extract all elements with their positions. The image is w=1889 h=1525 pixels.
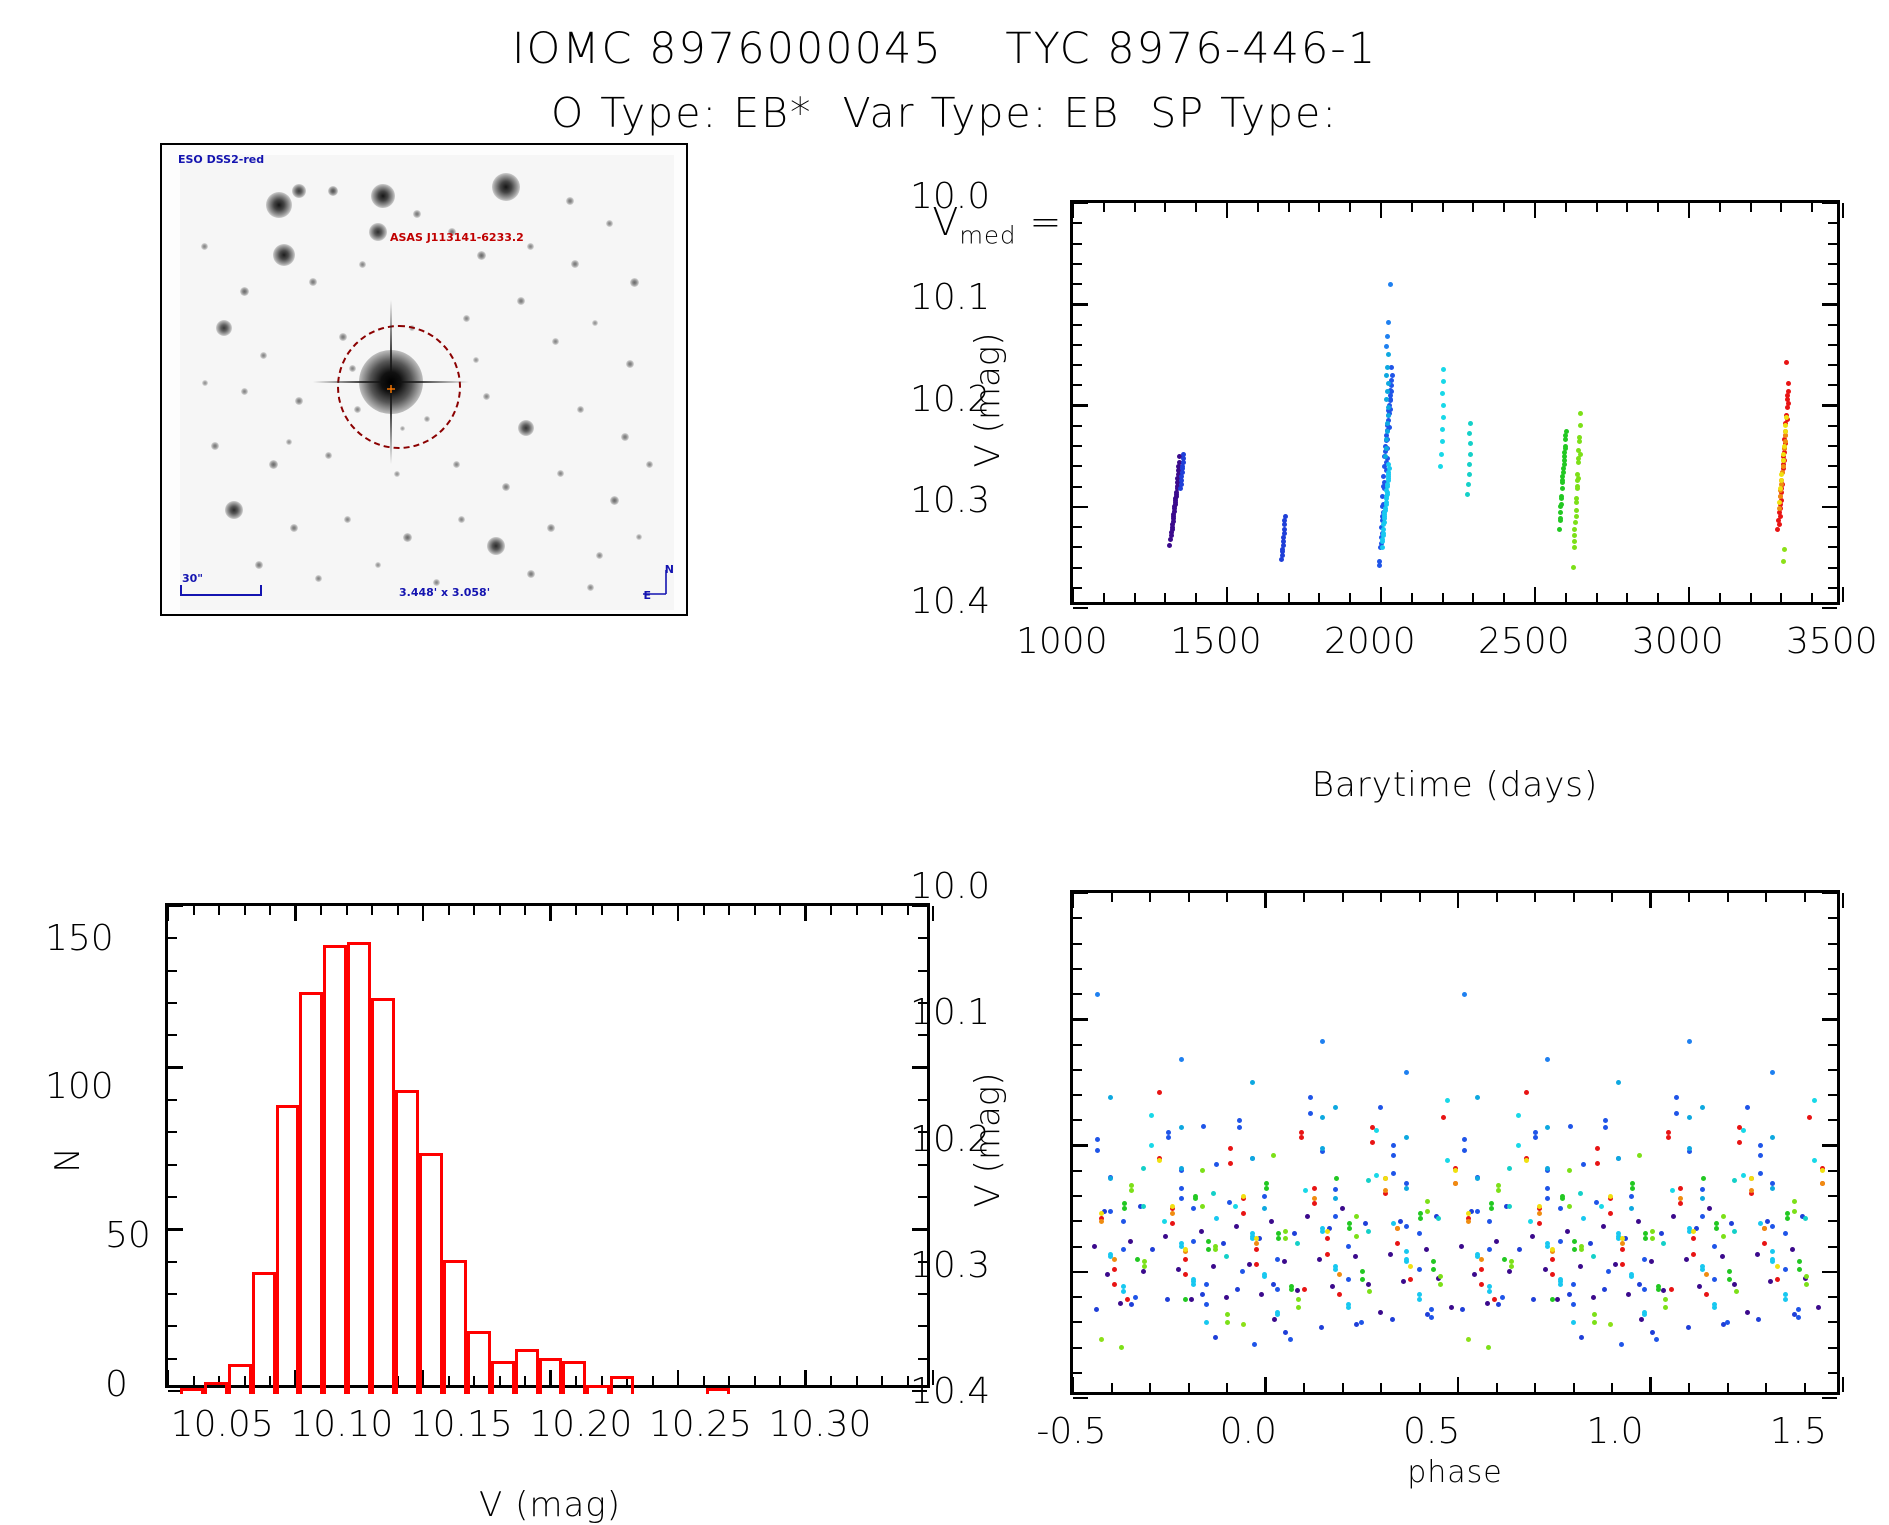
data-point bbox=[1613, 1262, 1618, 1267]
field-star bbox=[610, 496, 619, 505]
data-point bbox=[1778, 514, 1783, 519]
lightcurve-plot-area[interactable] bbox=[1070, 200, 1840, 605]
x-tick-minor-bottom bbox=[1349, 593, 1351, 602]
data-point bbox=[1758, 1143, 1763, 1148]
data-point bbox=[1567, 1292, 1572, 1297]
phaseplot-plot-area[interactable] bbox=[1070, 890, 1840, 1395]
data-point bbox=[1712, 1277, 1717, 1282]
data-point bbox=[1606, 1269, 1611, 1274]
histogram-x-axis-label: V (mag) bbox=[300, 1485, 800, 1525]
data-point bbox=[1581, 1162, 1586, 1167]
data-point bbox=[1782, 444, 1787, 449]
data-point bbox=[1417, 1297, 1422, 1302]
data-point bbox=[1775, 527, 1780, 532]
data-point bbox=[1378, 1105, 1383, 1110]
data-point bbox=[1745, 1105, 1750, 1110]
histogram-y-tick-label: 0 bbox=[105, 1364, 128, 1405]
x-tick-minor-top bbox=[652, 906, 654, 915]
data-point bbox=[1734, 1289, 1739, 1294]
data-point bbox=[1282, 527, 1287, 532]
data-point bbox=[1388, 282, 1393, 287]
data-point bbox=[1608, 1194, 1613, 1199]
data-point bbox=[1108, 1209, 1113, 1214]
field-star bbox=[566, 197, 574, 205]
x-tick-minor-bottom bbox=[1503, 593, 1505, 602]
y-tick-major-left bbox=[1073, 1144, 1088, 1147]
x-tick-minor-bottom bbox=[728, 1376, 730, 1385]
x-tick-major-bottom bbox=[677, 1370, 680, 1385]
histogram-bar bbox=[276, 1105, 300, 1394]
data-point bbox=[1094, 1307, 1099, 1312]
data-point bbox=[1572, 545, 1577, 550]
data-point bbox=[1401, 1279, 1406, 1284]
data-point bbox=[1687, 1039, 1692, 1044]
data-point bbox=[1792, 1209, 1797, 1214]
data-point bbox=[1254, 1241, 1259, 1246]
field-star bbox=[309, 278, 317, 286]
field-star bbox=[596, 552, 603, 559]
y-tick-minor-right bbox=[1828, 587, 1837, 589]
y-tick-minor-left bbox=[1073, 283, 1082, 285]
data-point bbox=[1467, 462, 1472, 467]
data-point bbox=[1320, 1146, 1325, 1151]
finder-chart-panel[interactable]: ASAS J113141-6233.2 ESO DSS2-red 30" 3.4… bbox=[160, 143, 688, 616]
data-point bbox=[1445, 1158, 1450, 1163]
data-point bbox=[1779, 472, 1784, 477]
data-point bbox=[1560, 480, 1565, 485]
data-point bbox=[1785, 1216, 1790, 1221]
x-tick-minor-top bbox=[346, 906, 348, 915]
data-point bbox=[1237, 1118, 1242, 1123]
y-tick-minor-right bbox=[918, 1325, 927, 1327]
x-tick-major-bottom bbox=[167, 1370, 170, 1385]
data-point bbox=[1170, 1221, 1175, 1226]
x-tick-minor-top bbox=[1611, 893, 1613, 902]
data-point bbox=[1560, 474, 1565, 479]
field-star bbox=[328, 186, 338, 196]
data-point bbox=[1112, 1282, 1117, 1287]
data-point bbox=[1359, 1320, 1364, 1325]
data-point bbox=[1571, 1282, 1576, 1287]
data-point bbox=[1347, 1226, 1352, 1231]
data-point bbox=[1737, 1125, 1742, 1130]
data-point bbox=[1366, 1178, 1371, 1183]
data-point bbox=[1234, 1224, 1239, 1229]
x-tick-minor-top bbox=[1257, 203, 1259, 212]
data-point bbox=[1768, 1279, 1773, 1284]
data-point bbox=[1804, 1282, 1809, 1287]
data-point bbox=[1565, 1229, 1570, 1234]
x-tick-major-top bbox=[1380, 203, 1383, 218]
x-tick-minor-top bbox=[1111, 893, 1113, 902]
histogram-y-tick-label: 100 bbox=[45, 1066, 114, 1107]
data-point bbox=[1637, 1153, 1642, 1158]
data-point bbox=[1275, 1287, 1280, 1292]
data-point bbox=[1241, 1194, 1246, 1199]
data-point bbox=[1487, 1219, 1492, 1224]
x-tick-minor-bottom bbox=[1442, 593, 1444, 602]
data-point bbox=[1629, 1194, 1634, 1199]
data-point bbox=[1095, 1148, 1100, 1153]
histogram-bar bbox=[706, 1388, 730, 1394]
x-tick-major-bottom bbox=[1842, 1377, 1845, 1392]
data-point bbox=[1804, 1274, 1809, 1279]
data-point bbox=[1247, 1262, 1252, 1267]
x-tick-minor-bottom bbox=[1565, 593, 1567, 602]
data-point bbox=[1575, 478, 1580, 483]
data-point bbox=[1271, 1153, 1276, 1158]
data-point bbox=[1149, 1143, 1154, 1148]
data-point bbox=[1691, 1252, 1696, 1257]
data-point bbox=[1275, 1257, 1280, 1262]
data-point bbox=[1121, 1247, 1126, 1252]
x-tick-minor-top bbox=[1288, 203, 1290, 212]
data-point bbox=[1333, 1214, 1338, 1219]
field-star bbox=[394, 471, 400, 477]
data-point bbox=[1509, 1264, 1514, 1269]
y-tick-minor-left bbox=[168, 1099, 177, 1101]
data-point bbox=[1629, 1272, 1634, 1277]
y-tick-minor-left bbox=[1073, 243, 1082, 245]
data-point bbox=[1575, 486, 1580, 491]
y-tick-minor-right bbox=[1828, 1195, 1837, 1197]
data-point bbox=[1714, 1226, 1719, 1231]
x-tick-minor-top bbox=[397, 906, 399, 915]
x-tick-major-top bbox=[1226, 203, 1229, 218]
x-tick-minor-bottom bbox=[856, 1376, 858, 1385]
x-tick-major-bottom bbox=[1688, 587, 1691, 602]
data-point bbox=[1479, 1282, 1484, 1287]
data-point bbox=[1765, 1219, 1770, 1224]
field-star bbox=[547, 524, 555, 532]
data-point bbox=[1325, 1236, 1330, 1241]
data-point bbox=[1545, 1057, 1550, 1062]
x-tick-minor-bottom bbox=[1573, 1383, 1575, 1392]
lightcurve-y-tick-label: 10.2 bbox=[910, 379, 990, 420]
data-point bbox=[1167, 543, 1172, 548]
data-point bbox=[1201, 1124, 1206, 1129]
data-point bbox=[1762, 1226, 1767, 1231]
data-point bbox=[1453, 1168, 1458, 1173]
data-point bbox=[1276, 1231, 1281, 1236]
data-point bbox=[1129, 1302, 1134, 1307]
y-tick-major-left bbox=[1073, 202, 1088, 205]
phaseplot-x-axis-label: phase bbox=[1205, 1455, 1705, 1490]
data-point bbox=[1380, 537, 1385, 542]
data-point bbox=[1543, 1267, 1548, 1272]
x-tick-minor-bottom bbox=[1750, 593, 1752, 602]
x-tick-minor-top bbox=[1688, 893, 1690, 902]
field-star bbox=[225, 501, 243, 519]
data-point bbox=[1112, 1267, 1117, 1272]
y-tick-minor-left bbox=[1073, 1220, 1082, 1222]
data-point bbox=[1601, 1224, 1606, 1229]
data-point bbox=[1250, 1156, 1255, 1161]
data-point bbox=[1666, 1135, 1671, 1140]
y-tick-minor-right bbox=[918, 1034, 927, 1036]
x-tick-major-top bbox=[1072, 893, 1075, 908]
y-tick-minor-right bbox=[1828, 526, 1837, 528]
data-point bbox=[1574, 508, 1579, 513]
data-point bbox=[1200, 1168, 1205, 1173]
data-point bbox=[1141, 1269, 1146, 1274]
data-point bbox=[1783, 1231, 1788, 1236]
y-tick-minor-right bbox=[1828, 445, 1837, 447]
histogram-y-tick-label: 50 bbox=[105, 1215, 151, 1256]
data-point bbox=[1183, 1247, 1188, 1252]
data-point bbox=[1142, 1264, 1147, 1269]
x-tick-minor-bottom bbox=[1811, 593, 1813, 602]
field-star bbox=[587, 584, 594, 591]
y-tick-minor-left bbox=[168, 937, 177, 939]
x-tick-minor-bottom bbox=[1303, 1383, 1305, 1392]
x-tick-minor-bottom bbox=[907, 1376, 909, 1385]
data-point bbox=[1254, 1262, 1259, 1267]
data-point bbox=[1283, 1330, 1288, 1335]
histogram-bar bbox=[180, 1388, 204, 1394]
histogram-bar bbox=[443, 1260, 467, 1394]
field-star bbox=[646, 461, 653, 468]
field-size-label: 3.448' x 3.058' bbox=[399, 586, 490, 599]
data-point bbox=[1588, 1241, 1593, 1246]
data-point bbox=[1636, 1219, 1641, 1224]
data-point bbox=[1296, 1305, 1301, 1310]
data-point bbox=[1389, 365, 1394, 370]
data-point bbox=[1305, 1214, 1310, 1219]
data-point bbox=[1608, 1211, 1613, 1216]
field-star bbox=[630, 278, 639, 287]
data-point bbox=[1299, 1130, 1304, 1135]
data-point bbox=[1292, 1231, 1297, 1236]
data-point bbox=[1404, 1135, 1409, 1140]
data-point bbox=[1663, 1297, 1668, 1302]
x-tick-minor-bottom bbox=[1164, 593, 1166, 602]
data-point bbox=[1659, 1231, 1664, 1236]
field-star bbox=[487, 537, 505, 555]
field-star bbox=[286, 439, 292, 445]
data-point bbox=[1099, 1219, 1104, 1224]
y-tick-minor-left bbox=[1073, 445, 1082, 447]
x-tick-major-top bbox=[1842, 203, 1845, 218]
y-tick-minor-left bbox=[1073, 546, 1082, 548]
y-tick-major-right bbox=[1822, 607, 1837, 610]
data-point bbox=[1366, 1282, 1371, 1287]
data-point bbox=[1380, 545, 1385, 550]
data-point bbox=[1816, 1305, 1821, 1310]
data-point bbox=[1555, 1297, 1560, 1302]
data-point bbox=[1224, 1254, 1229, 1259]
data-point bbox=[1620, 1262, 1625, 1267]
x-tick-minor-top bbox=[1380, 893, 1382, 902]
data-point bbox=[1441, 415, 1446, 420]
data-point bbox=[1678, 1201, 1683, 1206]
data-point bbox=[1200, 1204, 1205, 1209]
data-point bbox=[1199, 1229, 1204, 1234]
data-point bbox=[1320, 1039, 1325, 1044]
data-point bbox=[1206, 1247, 1211, 1252]
histogram-x-tick-label: 10.25 bbox=[649, 1404, 752, 1445]
x-tick-minor-top bbox=[1596, 203, 1598, 212]
data-point bbox=[1275, 1310, 1280, 1315]
data-point bbox=[1770, 1070, 1775, 1075]
phaseplot-x-tick-label: 0.0 bbox=[1220, 1411, 1277, 1452]
data-point bbox=[1191, 1239, 1196, 1244]
data-point bbox=[1384, 446, 1389, 451]
data-point bbox=[1388, 1252, 1393, 1257]
object-name-annotation: ASAS J113141-6233.2 bbox=[390, 231, 524, 244]
y-tick-minor-right bbox=[1828, 1094, 1837, 1096]
histogram-bar bbox=[539, 1358, 563, 1394]
data-point bbox=[1237, 1125, 1242, 1130]
data-point bbox=[1425, 1199, 1430, 1204]
data-point bbox=[1440, 391, 1445, 396]
x-tick-minor-top bbox=[626, 906, 628, 915]
data-point bbox=[1224, 1295, 1229, 1300]
y-tick-major-right bbox=[1822, 1271, 1837, 1274]
field-star bbox=[626, 360, 634, 368]
field-star bbox=[492, 173, 520, 201]
data-point bbox=[1783, 433, 1788, 438]
x-tick-minor-bottom bbox=[1195, 593, 1197, 602]
data-point bbox=[1560, 486, 1565, 491]
data-point bbox=[1439, 452, 1444, 457]
data-point bbox=[1241, 1322, 1246, 1327]
data-point bbox=[1517, 1247, 1522, 1252]
y-tick-minor-left bbox=[1073, 943, 1082, 945]
data-point bbox=[1691, 1229, 1696, 1234]
data-point bbox=[1572, 1239, 1577, 1244]
data-point bbox=[1312, 1186, 1317, 1191]
y-tick-minor-right bbox=[1828, 1246, 1837, 1248]
field-star bbox=[344, 516, 351, 523]
data-point bbox=[1269, 1219, 1274, 1224]
data-point bbox=[1108, 1095, 1113, 1100]
x-tick-minor-bottom bbox=[1688, 1383, 1690, 1392]
x-tick-minor-bottom bbox=[1496, 1383, 1498, 1392]
histogram-bar bbox=[515, 1349, 539, 1394]
y-tick-minor-right bbox=[918, 1293, 927, 1295]
data-point bbox=[1642, 1310, 1647, 1315]
data-point bbox=[1691, 1236, 1696, 1241]
data-point bbox=[1404, 1257, 1409, 1262]
data-point bbox=[1777, 506, 1782, 511]
data-point bbox=[1599, 1204, 1604, 1209]
x-tick-minor-top bbox=[1226, 893, 1228, 902]
y-tick-minor-left bbox=[168, 1034, 177, 1036]
data-point bbox=[1467, 472, 1472, 477]
x-tick-major-top bbox=[1649, 893, 1652, 908]
data-point bbox=[1786, 401, 1791, 406]
x-tick-minor-top bbox=[1719, 203, 1721, 212]
x-tick-minor-top bbox=[856, 906, 858, 915]
x-tick-minor-top bbox=[830, 906, 832, 915]
histogram-plot-area[interactable] bbox=[165, 903, 930, 1388]
y-tick-minor-left bbox=[1073, 1246, 1082, 1248]
data-point bbox=[1616, 1156, 1621, 1161]
data-point bbox=[1654, 1337, 1659, 1342]
data-point bbox=[1670, 1188, 1675, 1193]
data-point bbox=[1486, 1345, 1491, 1350]
data-point bbox=[1727, 1277, 1732, 1282]
histogram-bar bbox=[228, 1364, 252, 1394]
data-point bbox=[1170, 1204, 1175, 1209]
data-point bbox=[1686, 1325, 1691, 1330]
data-point bbox=[1687, 1115, 1692, 1120]
x-tick-minor-top bbox=[907, 906, 909, 915]
x-tick-minor-top bbox=[1411, 203, 1413, 212]
x-tick-minor-top bbox=[1349, 203, 1351, 212]
y-tick-major-left bbox=[1073, 1271, 1088, 1274]
field-star bbox=[552, 338, 559, 345]
data-point bbox=[1354, 1214, 1359, 1219]
data-point bbox=[1466, 1337, 1471, 1342]
y-tick-minor-left bbox=[1073, 1119, 1082, 1121]
y-tick-minor-left bbox=[168, 970, 177, 972]
data-point bbox=[1595, 1161, 1600, 1166]
phaseplot-y-tick-label: 10.2 bbox=[910, 1119, 990, 1160]
data-point bbox=[1295, 1241, 1300, 1246]
y-tick-major-left bbox=[168, 905, 183, 908]
data-point bbox=[1170, 1211, 1175, 1216]
data-point bbox=[1712, 1244, 1717, 1249]
data-point bbox=[1524, 1158, 1529, 1163]
histogram-bar bbox=[299, 992, 323, 1394]
histogram-y-tick-label: 150 bbox=[45, 918, 114, 959]
data-point bbox=[1466, 1219, 1471, 1224]
data-point bbox=[1385, 334, 1390, 339]
x-tick-minor-bottom bbox=[1188, 1383, 1190, 1392]
y-tick-major-left bbox=[168, 1066, 183, 1069]
aperture-circle bbox=[337, 325, 461, 449]
data-point bbox=[1395, 1226, 1400, 1231]
x-tick-minor-top bbox=[1419, 893, 1421, 902]
y-tick-minor-left bbox=[1073, 1044, 1082, 1046]
data-point bbox=[1674, 1111, 1679, 1116]
x-tick-minor-top bbox=[1496, 893, 1498, 902]
data-point bbox=[1337, 1292, 1342, 1297]
data-point bbox=[1758, 1153, 1763, 1158]
data-point bbox=[1346, 1277, 1351, 1282]
data-point bbox=[1642, 1257, 1647, 1262]
data-point bbox=[1108, 1176, 1113, 1181]
x-tick-minor-top bbox=[779, 906, 781, 915]
data-point bbox=[1619, 1342, 1624, 1347]
histogram-x-tick-label: 10.15 bbox=[410, 1404, 513, 1445]
data-point bbox=[1408, 1277, 1413, 1282]
data-point bbox=[1630, 1186, 1635, 1191]
x-tick-minor-top bbox=[1750, 203, 1752, 212]
lightcurve-title-sub: med bbox=[959, 221, 1016, 250]
data-point bbox=[1204, 1282, 1209, 1287]
data-point bbox=[1128, 1239, 1133, 1244]
y-tick-minor-left bbox=[1073, 1195, 1082, 1197]
y-tick-minor-left bbox=[1073, 1321, 1082, 1323]
data-point bbox=[1099, 1211, 1104, 1216]
data-point bbox=[1545, 1125, 1550, 1130]
histogram-bar bbox=[610, 1376, 634, 1394]
data-point bbox=[1440, 427, 1445, 432]
data-point bbox=[1228, 1146, 1233, 1151]
x-tick-minor-bottom bbox=[1626, 593, 1628, 602]
data-point bbox=[1193, 1194, 1198, 1199]
data-point bbox=[1333, 1105, 1338, 1110]
data-point bbox=[1225, 1312, 1230, 1317]
data-point bbox=[1383, 454, 1388, 459]
histogram-x-tick-label: 10.30 bbox=[768, 1404, 871, 1445]
y-tick-major-left bbox=[1073, 1397, 1088, 1400]
data-point bbox=[1560, 1194, 1565, 1199]
y-tick-minor-left bbox=[1073, 364, 1082, 366]
